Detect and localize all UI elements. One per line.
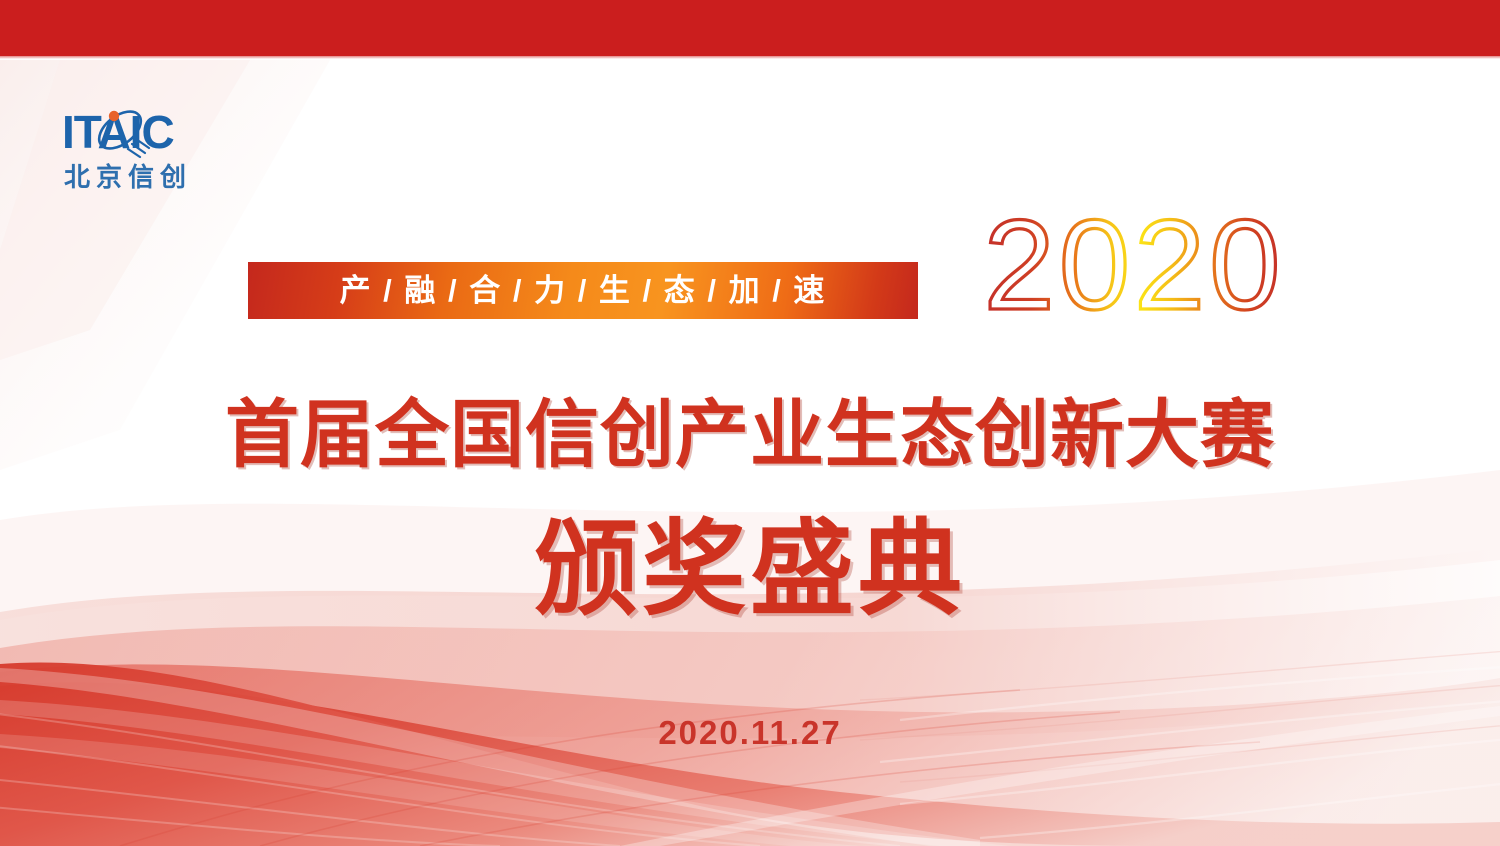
slogan-banner: 产 / 融 / 合 / 力 / 生 / 态 / 加 / 速 <box>248 262 918 319</box>
orange-dot-icon <box>109 111 119 121</box>
itaic-logo: ITAIC 北京信创 <box>62 104 212 204</box>
top-band-hairline <box>0 56 1500 59</box>
slogan-text: 产 / 融 / 合 / 力 / 生 / 态 / 加 / 速 <box>340 262 827 319</box>
headline: 首届全国信创产业生态创新大赛 <box>0 392 1500 478</box>
year-text: 2020 <box>984 206 1285 334</box>
event-date-text: 2020.11.27 <box>658 712 841 754</box>
headline-text: 首届全国信创产业生态创新大赛 <box>225 392 1275 478</box>
top-red-band <box>0 0 1500 56</box>
poster-canvas: ITAIC 北京信创 产 / 融 / 合 / 力 / 生 / 态 / 加 / 速 <box>0 0 1500 846</box>
event-date: 2020.11.27 <box>0 712 1500 754</box>
logo-chinese-name: 北京信创 <box>64 160 192 194</box>
atom-orbit-icon <box>62 104 212 162</box>
year-2020-outline: 2020 <box>944 206 1324 334</box>
subheadline: 颁奖盛典 <box>0 508 1500 632</box>
subheadline-text: 颁奖盛典 <box>534 508 966 632</box>
logo-wordmark-group: ITAIC <box>62 104 212 162</box>
